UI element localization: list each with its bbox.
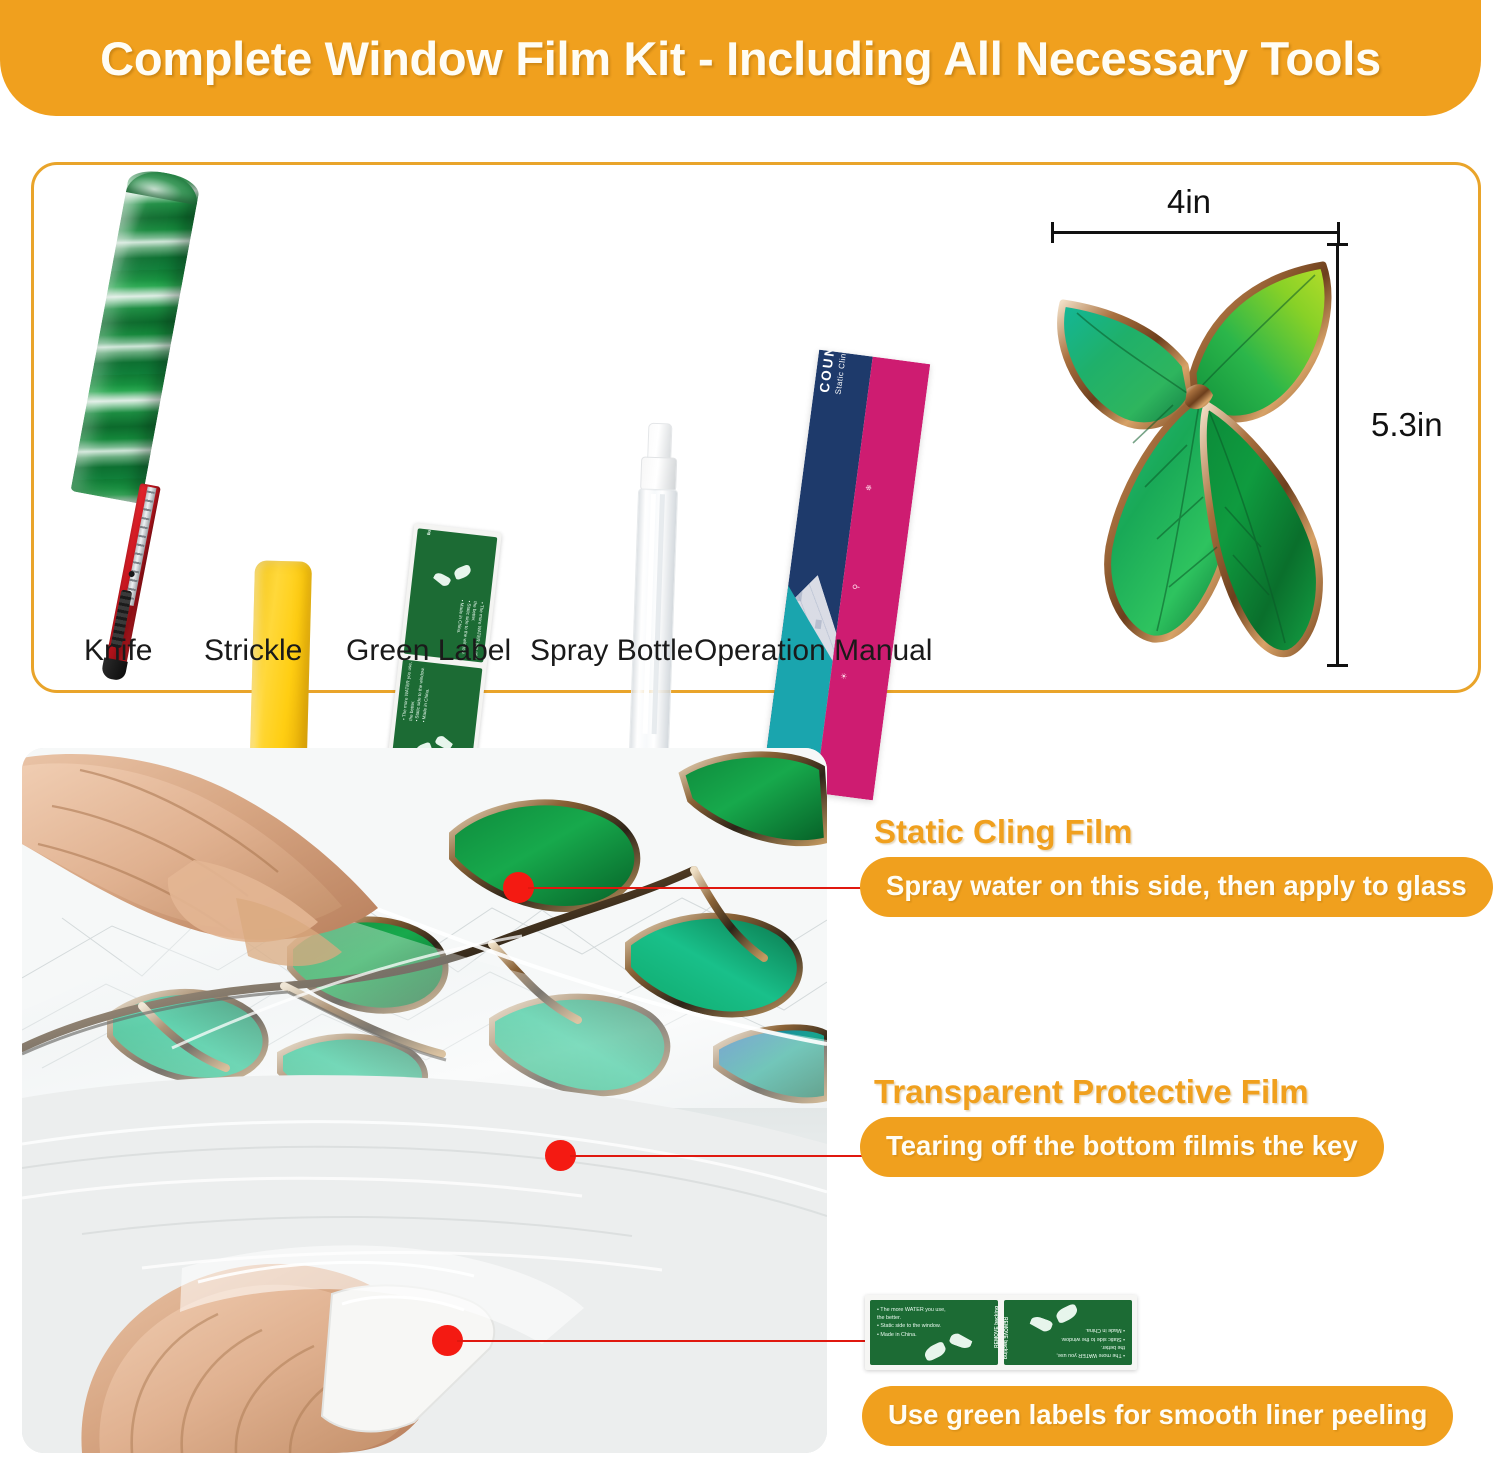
decal-dimension-diagram: 4in 5.3in xyxy=(989,165,1484,690)
tools-row: • The more WATER you use, the better. • … xyxy=(34,165,964,690)
sun-icon: ☀ xyxy=(839,671,849,681)
green-label-card-right: • The more WATER you use, the better. • … xyxy=(1004,1300,1132,1365)
green-label-graphic: • The more WATER you use, the better. • … xyxy=(865,1295,1137,1370)
film-roll-icon xyxy=(70,166,201,504)
film-application-photo xyxy=(22,748,827,1453)
spray-bottle-icon xyxy=(626,422,683,793)
leader-line-green-label xyxy=(457,1340,867,1342)
width-dimension-line xyxy=(1051,231,1340,234)
tool-label-green-label: Green Label xyxy=(346,634,511,668)
height-dimension-label: 5.3in xyxy=(1371,406,1443,444)
callout-pill: Tearing off the bottom filmis the key xyxy=(860,1117,1384,1177)
green-label-remove-text: REMOVE backing film from panel xyxy=(1004,1317,1008,1359)
peeling-hands-icon xyxy=(924,1334,982,1360)
green-label-remove-text: REMOVE backing film from panel xyxy=(420,528,436,536)
tool-label-strickle: Strickle xyxy=(204,634,302,668)
callout-pill: Spray water on this side, then apply to … xyxy=(860,857,1493,917)
kit-contents-panel: • The more WATER you use, the better. • … xyxy=(31,162,1481,693)
callout-pill: Use green labels for smooth liner peelin… xyxy=(862,1386,1453,1446)
peeling-hands-icon xyxy=(1020,1305,1078,1331)
tool-label-knife: Knife xyxy=(84,634,152,668)
leader-line-protective-film xyxy=(570,1155,862,1157)
snowflake-icon: ❄ xyxy=(864,483,874,493)
manual-brand: COUNTEWOL Static Cling Window Film xyxy=(817,350,861,395)
header-banner: Complete Window Film Kit - Including All… xyxy=(0,0,1481,116)
spray-nozzle xyxy=(647,423,672,462)
page-title: Complete Window Film Kit - Including All… xyxy=(100,31,1381,86)
stained-glass-leaf-decal xyxy=(1037,247,1357,667)
spray-collar xyxy=(640,456,677,491)
tool-label-operation-manual: Operation Manual xyxy=(694,634,932,668)
green-label-bullets: • The more WATER you use, the better. • … xyxy=(1056,1326,1125,1359)
tool-labels: Knife Strickle Green Label Spray Bottle … xyxy=(74,632,934,668)
callout-title: Static Cling Film xyxy=(874,813,1493,851)
key-icon: ⚲ xyxy=(851,582,861,592)
green-label-card-left: • The more WATER you use, the better. • … xyxy=(870,1300,998,1365)
green-label-remove-text: REMOVE backing film from panel xyxy=(994,1306,998,1348)
callout-green-labels: Use green labels for smooth liner peelin… xyxy=(862,1386,1453,1446)
manual-booklet-icon: COUNTEWOL Static Cling Window Film ❄ ⚲ ☀ xyxy=(762,350,930,801)
callout-transparent-protective-film: Transparent Protective Film Tearing off … xyxy=(860,1073,1384,1177)
callout-static-cling-film: Static Cling Film Spray water on this si… xyxy=(860,813,1493,917)
leader-line-static-cling xyxy=(528,887,862,889)
green-label-bullets: • The more WATER you use, the better. • … xyxy=(401,664,434,723)
peeling-hands-icon xyxy=(421,547,473,592)
tool-label-spray-bottle: Spray Bottle xyxy=(530,634,693,668)
width-dimension-label: 4in xyxy=(1167,183,1211,221)
callout-title: Transparent Protective Film xyxy=(874,1073,1384,1111)
